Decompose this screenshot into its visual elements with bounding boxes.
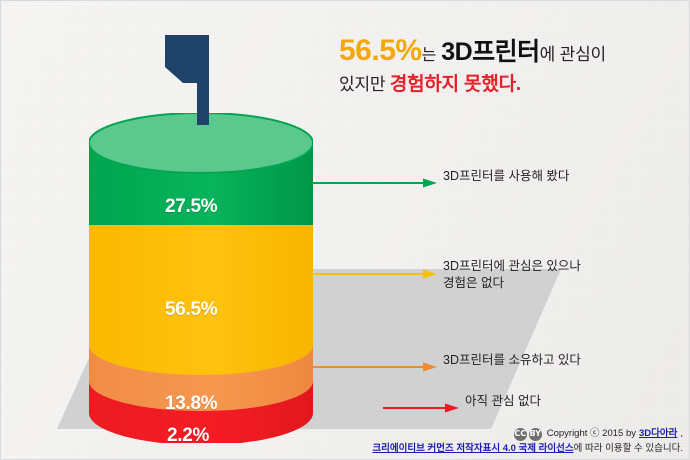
license-tail: 에 따라 이용할 수 있습니다. [574,443,683,454]
headline-keyword-printer: 3D프린터 [441,38,539,66]
callout-interested-line1: 3D프린터에 관심은 있으나 [443,259,581,273]
callout-label-interested: 3D프린터에 관심은 있으나 경험은 없다 [443,258,581,292]
headline-line2-prefix: 있지만 [339,75,390,94]
headline-percent: 56.5% [339,34,422,67]
callout-used-line1: 3D프린터를 사용해 봤다 [443,169,569,183]
segment-value-interested: 56.5% [165,299,217,321]
headline-keyword-red: 경험하지 못했다. [390,74,521,95]
owner-suffix: , [680,427,683,441]
callout-arrow-green [313,178,437,188]
callout-none-line1: 아직 관심 없다 [465,394,541,408]
headline-josa: 는 [422,47,437,64]
callout-used-3d-printer: 3D프린터를 사용해 봤다 [313,174,663,185]
cc-mark-icon: CC [514,428,527,441]
footer-license: CC BY Copyright ⓒ 2015 by 3D다아라, 크리에이티브 … [372,427,683,456]
license-link[interactable]: 크리에이티브 커먼즈 저작자표시 4.0 국제 라이선스 [372,443,573,454]
footer-copyright-row: CC BY Copyright ⓒ 2015 by 3D다아라, [372,427,683,441]
callout-label-owns: 3D프린터를 소유하고 있다 [443,352,581,369]
callout-label-none: 아직 관심 없다 [465,393,541,410]
callout-label-used: 3D프린터를 사용해 봤다 [443,168,569,185]
callout-arrow-orange [313,362,437,372]
segment-value-used: 27.5% [165,196,217,218]
segment-value-none: 2.2% [167,425,209,447]
callout-interested-line2: 경험은 없다 [443,275,581,292]
copyright-text: Copyright ⓒ 2015 by [547,427,636,441]
callout-arrow-red [383,403,459,413]
creative-commons-icon: CC BY [514,428,542,441]
callout-arrow-amber [313,269,437,279]
headline: 56.5%는 3D프린터에 관심이 있지만 경험하지 못했다. [339,31,687,98]
headline-tail: 에 관심이 [540,45,606,64]
callout-owns-printer: 3D프린터를 소유하고 있다 [313,358,663,369]
callout-interested-no-exp: 3D프린터에 관심은 있으나 경험은 없다 [313,265,663,292]
owner-link[interactable]: 3D다아라 [639,427,677,441]
callout-not-interested: 아직 관심 없다 [383,399,673,410]
infographic-canvas: 27.5% 56.5% 13.8% 2.2% 56.5%는 3D프린터에 관심이… [0,0,690,460]
printer-nozzle-icon [161,33,219,125]
segment-value-owns: 13.8% [165,393,217,415]
callout-owns-line1: 3D프린터를 소유하고 있다 [443,353,581,367]
footer-license-row: 크리에이티브 커먼즈 저작자표시 4.0 국제 라이선스에 따라 이용할 수 있… [372,442,683,456]
cc-by-icon: BY [529,428,542,441]
